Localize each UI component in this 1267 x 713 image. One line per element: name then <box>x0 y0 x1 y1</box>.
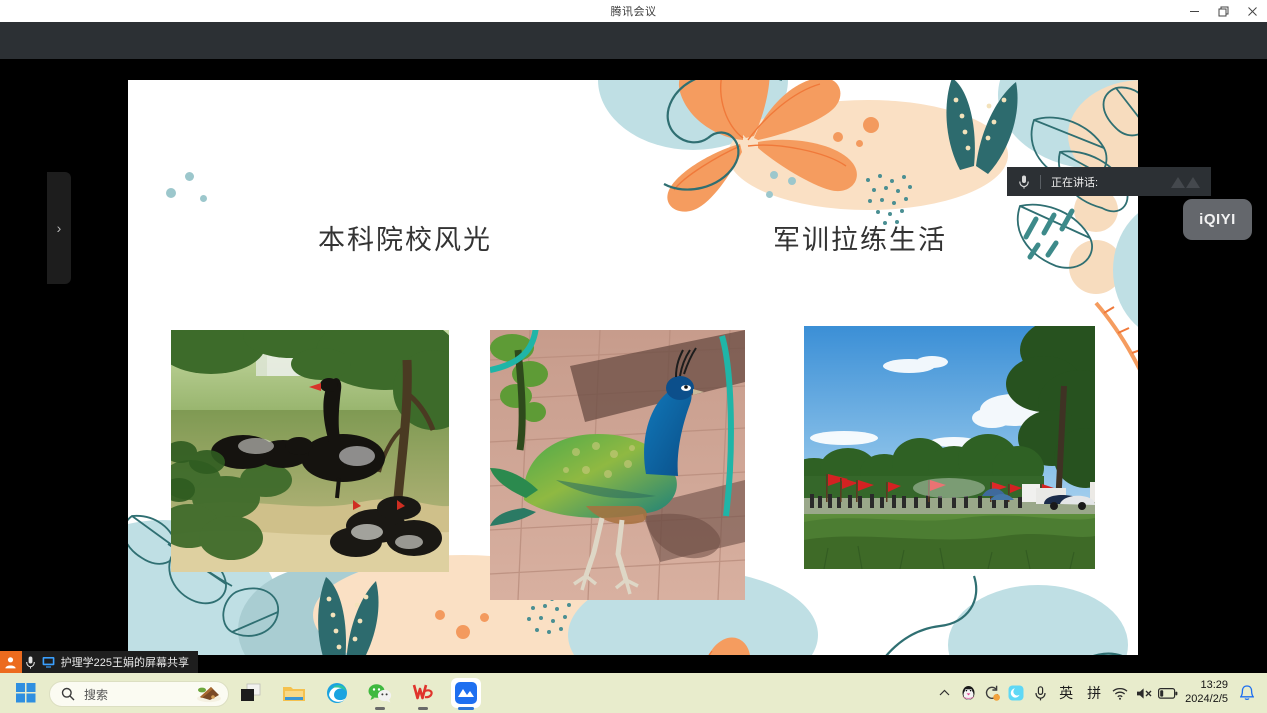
taskbar-search-box[interactable]: 搜索 <box>49 681 229 707</box>
minimize-button[interactable] <box>1180 0 1209 22</box>
meeting-toolbar-left <box>0 22 107 59</box>
taskbar-search-placeholder: 搜索 <box>84 686 108 703</box>
deco-dot-teal-6 <box>766 191 773 198</box>
battery-icon[interactable] <box>1156 673 1180 713</box>
clock-time: 13:29 <box>1200 679 1228 693</box>
iqiyi-label: iQIYI <box>1199 211 1236 228</box>
meeting-toolbar-strip <box>0 22 1267 59</box>
qq-icon[interactable] <box>956 673 980 713</box>
chevron-up-icon[interactable] <box>932 673 956 713</box>
chevron-right-icon: › <box>57 220 62 236</box>
person-icon <box>0 651 22 673</box>
microsoft-edge-icon[interactable] <box>322 678 352 708</box>
deco-ticks-teal <box>1018 205 1098 265</box>
ime-mode-indicator[interactable]: 拼 <box>1080 673 1108 713</box>
app-blue-icon[interactable] <box>1004 673 1028 713</box>
deco-dot-orange-b1 <box>456 625 470 639</box>
app-running-underline <box>418 707 428 710</box>
wifi-icon[interactable] <box>1108 673 1132 713</box>
system-tray: 英 拼 13:29 2024/2/5 <box>932 673 1259 713</box>
audio-wave-icon <box>1169 174 1203 189</box>
close-icon <box>1247 6 1258 17</box>
deco-dot-orange-3 <box>856 140 863 147</box>
side-panel-expander[interactable]: › <box>47 172 71 284</box>
photo-military-training <box>804 326 1095 569</box>
deco-vine-teal-topleft <box>568 80 788 220</box>
speaker-muted-icon[interactable] <box>1132 673 1156 713</box>
minimize-icon <box>1189 6 1200 17</box>
window-titlebar: 腾讯会议 <box>0 0 1267 22</box>
wechat-icon[interactable] <box>365 678 395 708</box>
deco-dot-teal-5 <box>788 177 796 185</box>
restore-button[interactable] <box>1209 0 1238 22</box>
peacock-image <box>490 330 745 600</box>
search-icon <box>61 687 75 701</box>
meeting-window-body: › <box>0 22 1267 651</box>
deco-dot-orange-1 <box>863 117 879 133</box>
screen-share-label: 护理学225王娟的屏幕共享 <box>61 654 189 670</box>
app-active-underline <box>458 707 474 710</box>
screen-share-bar[interactable]: 护理学225王娟的屏幕共享 <box>0 651 198 673</box>
black-swans-image <box>171 330 449 572</box>
wps-office-icon[interactable] <box>408 678 438 708</box>
microphone-icon[interactable] <box>22 651 40 673</box>
slide-decorations: 本科院校风光 军训拉练生活 <box>128 80 1138 655</box>
pie-slice-icon <box>196 685 222 703</box>
speaking-divider <box>1040 175 1041 189</box>
file-explorer-icon[interactable] <box>279 678 309 708</box>
deco-vine-teal-bottomright <box>848 560 1138 655</box>
shared-slide: 本科院校风光 军训拉练生活 <box>128 80 1138 655</box>
close-button[interactable] <box>1238 0 1267 22</box>
monitor-icon[interactable] <box>40 651 58 673</box>
deco-dot-orange-2 <box>833 132 843 142</box>
deco-leaf-teal-dark-bottom <box>288 565 408 655</box>
deco-dot-orange-b2 <box>435 610 445 620</box>
task-view-icon[interactable] <box>236 678 266 708</box>
app-running-underline <box>375 707 385 710</box>
tencent-meeting-icon[interactable] <box>451 678 481 708</box>
bell-icon[interactable] <box>1235 673 1259 713</box>
deco-dot-teal-4 <box>770 171 778 179</box>
photo-black-swans <box>171 330 449 572</box>
microphone-icon[interactable] <box>1028 673 1052 713</box>
slide-heading-right: 军训拉练生活 <box>773 218 947 257</box>
deco-dot-orange-b3 <box>480 613 489 622</box>
speaking-indicator: 正在讲话: <box>1007 167 1211 196</box>
window-controls <box>1180 0 1267 22</box>
taskbar-app-icons <box>236 678 481 708</box>
deco-dot-teal-2 <box>166 188 176 198</box>
deco-dot-teal-3 <box>200 195 207 202</box>
sync-icon[interactable] <box>980 673 1004 713</box>
taskbar-clock[interactable]: 13:29 2024/2/5 <box>1180 679 1235 707</box>
iqiyi-watermark: iQIYI <box>1183 199 1252 240</box>
photo-peacock <box>490 330 745 600</box>
microphone-icon <box>1007 167 1040 196</box>
deco-zigzag-orange-right <box>1088 295 1138 445</box>
window-title: 腾讯会议 <box>611 3 657 19</box>
speaking-label: 正在讲话: <box>1051 174 1098 190</box>
slide-heading-left: 本科院校风光 <box>318 218 492 257</box>
windows-start-icon[interactable] <box>13 681 39 705</box>
deco-dot-teal-1 <box>185 172 194 181</box>
clock-date: 2024/2/5 <box>1185 693 1228 707</box>
ime-language-indicator[interactable]: 英 <box>1052 673 1080 713</box>
restore-icon <box>1218 6 1229 17</box>
military-training-image <box>804 326 1095 569</box>
